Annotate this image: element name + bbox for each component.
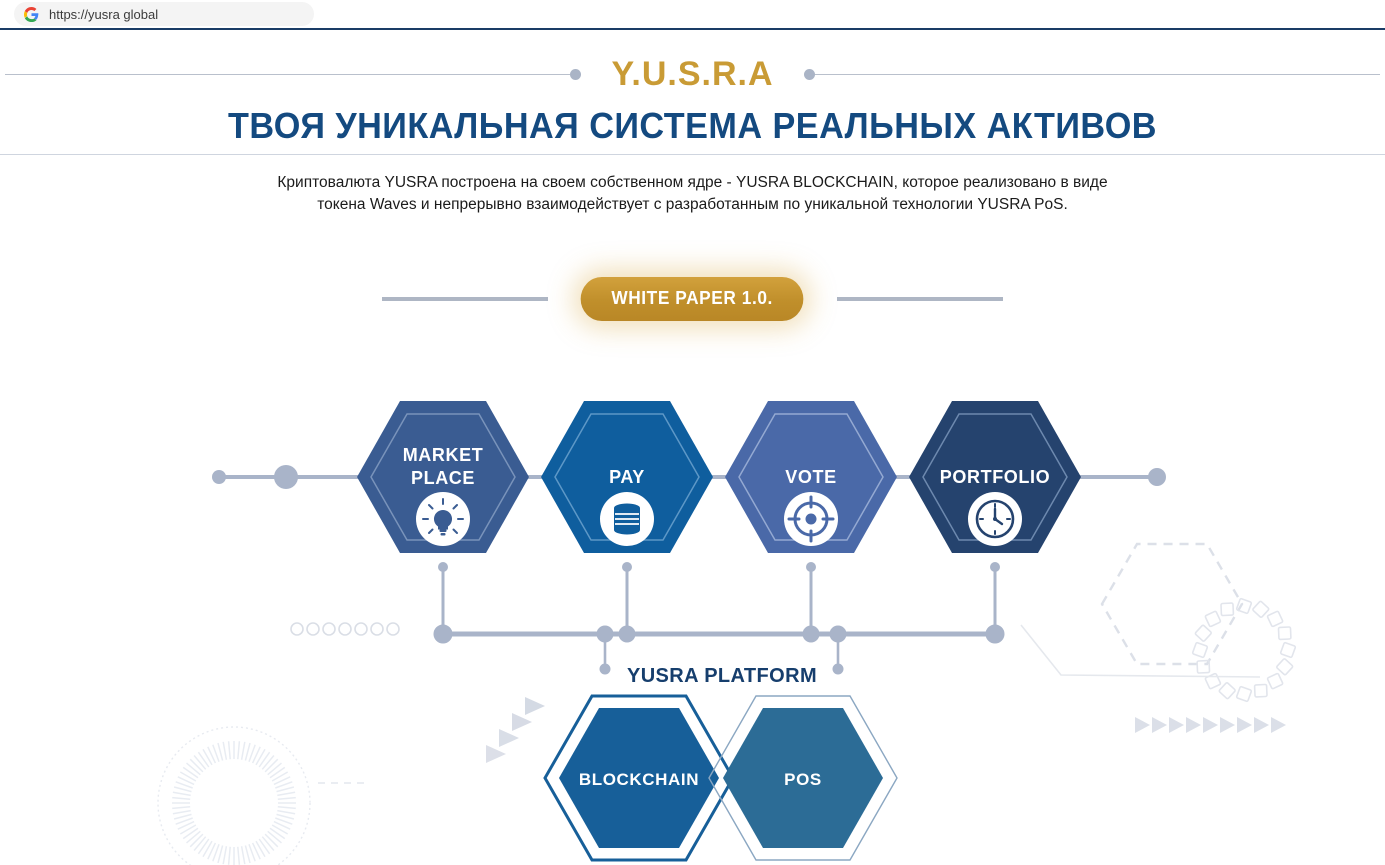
hex-node-pos[interactable]: POS (709, 696, 897, 860)
coin-stack-icon (600, 492, 654, 546)
hex-label-marketplace-2: PLACE (411, 468, 475, 488)
hex-node-blockchain[interactable]: BLOCKCHAIN (545, 696, 733, 860)
brand-dot-left (570, 69, 581, 80)
hex-label-pos: POS (784, 770, 822, 789)
hex-node-pay[interactable]: PAY (541, 401, 713, 553)
square-ring-decoration (1192, 598, 1295, 701)
brand-rule-right (815, 74, 1380, 75)
connector-bus (434, 563, 1004, 675)
browser-chrome-bar: https://yusra global (0, 0, 1385, 30)
cta-rule-right (837, 297, 1003, 301)
hex-label-blockchain: BLOCKCHAIN (579, 770, 699, 789)
brand-title-row: Y.U.S.R.A (0, 50, 1385, 98)
triangle-cascade-decoration (486, 697, 545, 763)
google-g-icon (24, 7, 39, 22)
lead-paragraph: Криптовалюта YUSRA построена на своем со… (253, 172, 1133, 216)
hex-label-portfolio: PORTFOLIO (940, 467, 1050, 487)
yusra-ecosystem-diagram: MARKET PLACE (0, 342, 1385, 865)
hex-node-vote[interactable]: VOTE (725, 401, 897, 553)
rail-dot-far-left (212, 470, 226, 484)
brand-title: Y.U.S.R.A (611, 55, 773, 94)
brand-dot-right (804, 69, 815, 80)
white-paper-button[interactable]: WHITE PAPER 1.0. (581, 277, 804, 321)
url-text: https://yusra global (49, 7, 158, 22)
address-bar[interactable]: https://yusra global (14, 2, 314, 26)
rail-dot-right (1148, 468, 1166, 486)
page-headline: ТВОЯ УНИКАЛЬНАЯ СИСТЕМА РЕАЛЬНЫХ АКТИВОВ (35, 105, 1351, 147)
page-content: Y.U.S.R.A ТВОЯ УНИКАЛЬНАЯ СИСТЕМА РЕАЛЬН… (0, 32, 1385, 865)
radial-burst-decoration (158, 727, 310, 865)
hex-label-marketplace-1: MARKET (403, 445, 484, 465)
hex-node-marketplace[interactable]: MARKET PLACE (357, 401, 529, 553)
target-icon (784, 492, 838, 546)
hex-node-portfolio[interactable]: PORTFOLIO (909, 401, 1081, 553)
lightbulb-icon (416, 492, 470, 546)
cta-rule-left (382, 297, 548, 301)
circle-row-decoration (291, 623, 399, 635)
triangle-row-decoration (1135, 717, 1286, 733)
white-paper-row: WHITE PAPER 1.0. (0, 264, 1385, 334)
decoration-layer (158, 544, 1296, 865)
hex-label-vote: VOTE (785, 467, 836, 487)
platform-label: YUSRA PLATFORM (627, 665, 817, 687)
clock-icon (968, 492, 1022, 546)
rail-dot-left (274, 465, 298, 489)
hex-label-pay: PAY (609, 467, 645, 487)
headline-divider (0, 154, 1385, 155)
brand-rule-left (5, 74, 570, 75)
